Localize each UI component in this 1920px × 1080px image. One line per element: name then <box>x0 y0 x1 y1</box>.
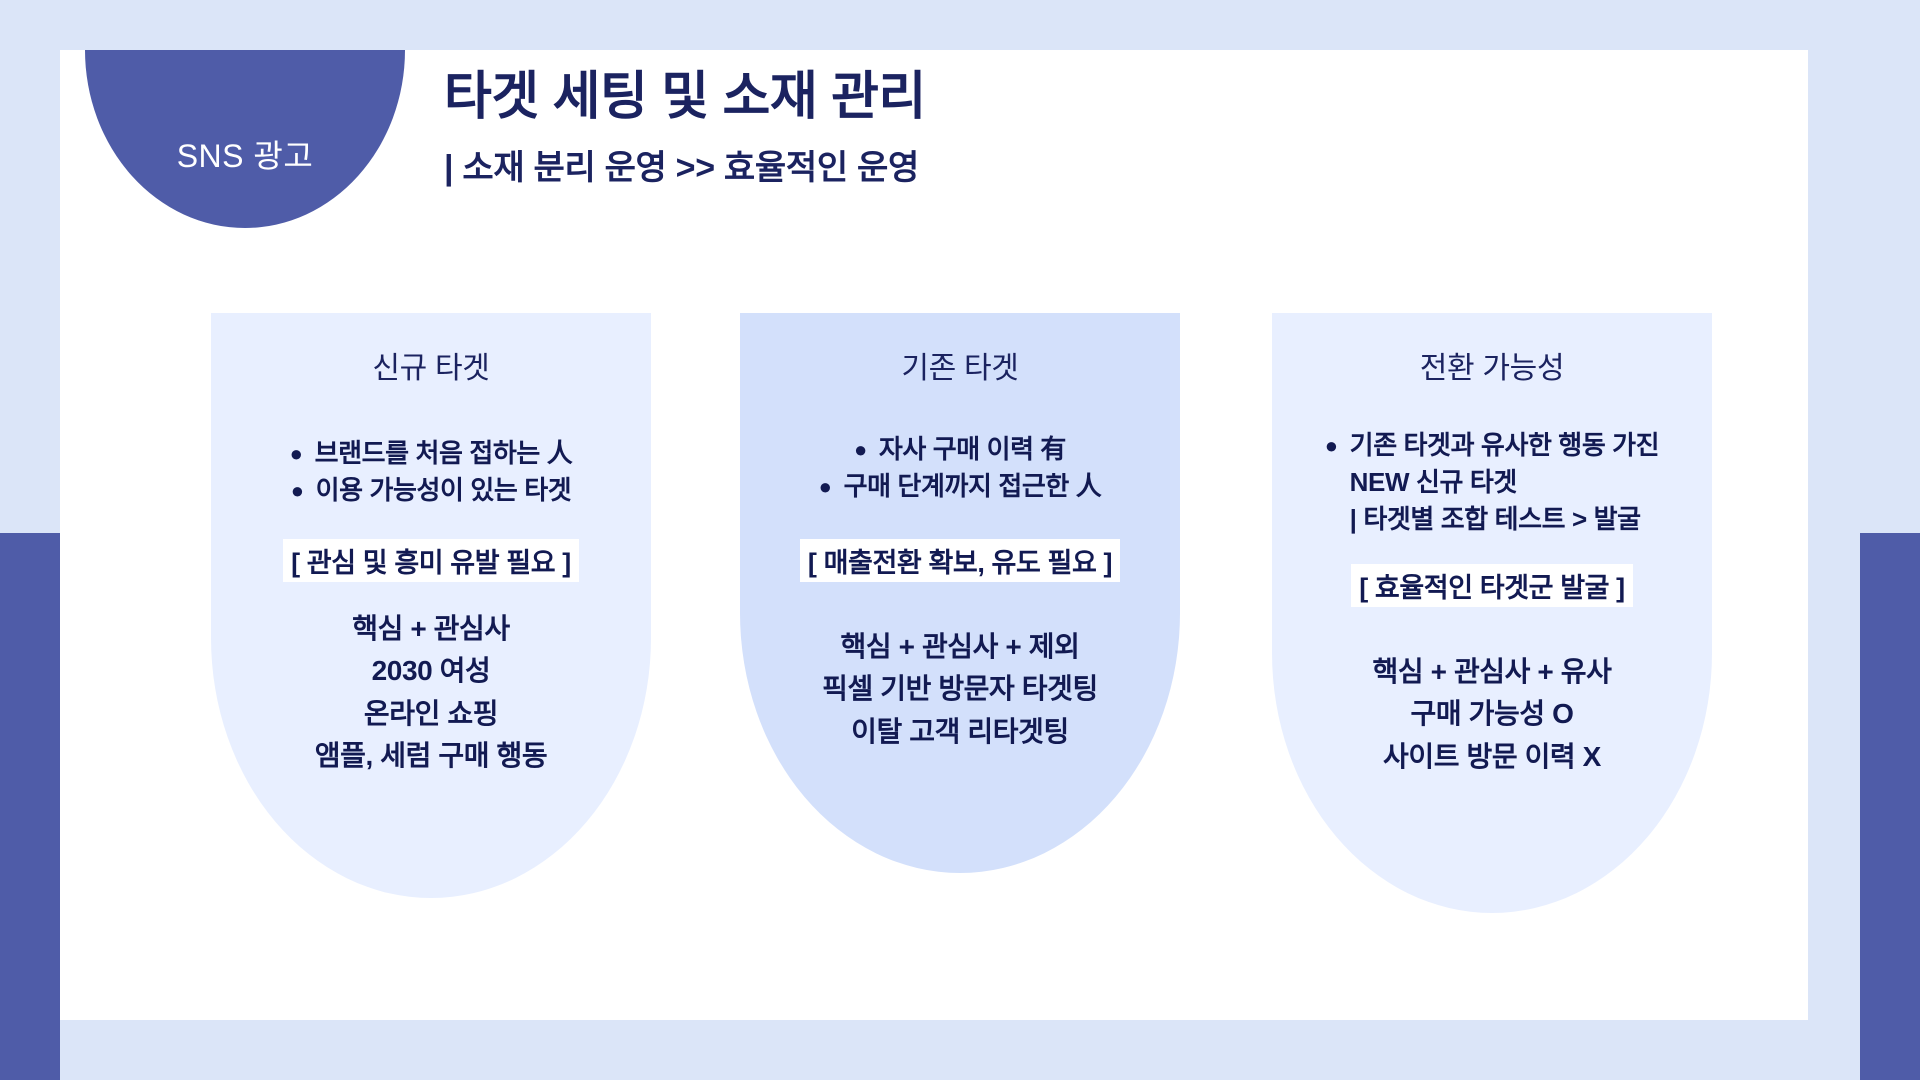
card-highlight-note: [ 효율적인 타겟군 발굴 ] <box>1351 564 1633 607</box>
target-card-group: 신규 타겟 ● 브랜드를 처음 접하는 人 ● 이용 가능성이 있는 타겟 [ … <box>0 313 1920 953</box>
card-title: 전환 가능성 <box>1420 343 1565 387</box>
card-detail-text: 핵심 + 관심사 + 제외 픽셀 기반 방문자 타겟팅 이탈 고객 리타겟팅 <box>822 626 1098 754</box>
bullet-dot-icon: ● <box>1325 429 1338 462</box>
page-subtitle: | 소재 분리 운영 >> 효율적인 운영 <box>444 140 926 189</box>
bullet-text: 브랜드를 처음 접하는 人 <box>315 435 573 472</box>
list-item: ● 구매 단계까지 접근한 人 <box>756 468 1164 505</box>
page-title: 타겟 세팅 및 소재 관리 <box>444 68 926 126</box>
bullet-text: 구매 단계까지 접근한 人 <box>844 468 1102 505</box>
bullet-dot-icon: ● <box>819 470 832 503</box>
bullet-dot-icon: ● <box>291 474 304 507</box>
bullet-dot-icon: ● <box>290 437 303 470</box>
bullet-dot-icon: ● <box>854 433 867 466</box>
bullet-text: 자사 구매 이력 有 <box>879 431 1066 468</box>
card-highlight-note: [ 관심 및 흥미 유발 필요 ] <box>283 539 579 582</box>
card-title: 기존 타겟 <box>901 343 1018 387</box>
card-bullet-list: ● 브랜드를 처음 접하는 人 ● 이용 가능성이 있는 타겟 <box>211 435 651 509</box>
badge-label: SNS 광고 <box>177 131 314 177</box>
card-highlight-note: [ 매출전환 확보, 유도 필요 ] <box>800 539 1120 582</box>
list-item: ● 자사 구매 이력 有 <box>756 431 1164 468</box>
target-card-conversion: 전환 가능성 ● 기존 타겟과 유사한 행동 가진 NEW 신규 타겟 | 타겟… <box>1272 313 1712 913</box>
target-card-new: 신규 타겟 ● 브랜드를 처음 접하는 人 ● 이용 가능성이 있는 타겟 [ … <box>211 313 651 898</box>
list-item: ● 기존 타겟과 유사한 행동 가진 NEW 신규 타겟 | 타겟별 조합 테스… <box>1288 427 1696 538</box>
card-bullet-list: ● 기존 타겟과 유사한 행동 가진 NEW 신규 타겟 | 타겟별 조합 테스… <box>1272 427 1712 538</box>
list-item: ● 브랜드를 처음 접하는 人 <box>227 435 635 472</box>
list-item: ● 이용 가능성이 있는 타겟 <box>227 472 635 509</box>
slide-header: 타겟 세팅 및 소재 관리 | 소재 분리 운영 >> 효율적인 운영 <box>444 68 926 189</box>
bullet-text: 기존 타겟과 유사한 행동 가진 NEW 신규 타겟 | 타겟별 조합 테스트 … <box>1350 427 1660 538</box>
target-card-existing: 기존 타겟 ● 자사 구매 이력 有 ● 구매 단계까지 접근한 人 [ 매출전… <box>740 313 1180 873</box>
card-detail-text: 핵심 + 관심사 2030 여성 온라인 쇼핑 앰플, 세럼 구매 행동 <box>315 608 547 778</box>
card-title: 신규 타겟 <box>372 343 489 387</box>
card-detail-text: 핵심 + 관심사 + 유사 구매 가능성 O 사이트 방문 이력 X <box>1373 651 1612 779</box>
card-bullet-list: ● 자사 구매 이력 有 ● 구매 단계까지 접근한 人 <box>740 431 1180 505</box>
bullet-text: 이용 가능성이 있는 타겟 <box>316 472 572 509</box>
